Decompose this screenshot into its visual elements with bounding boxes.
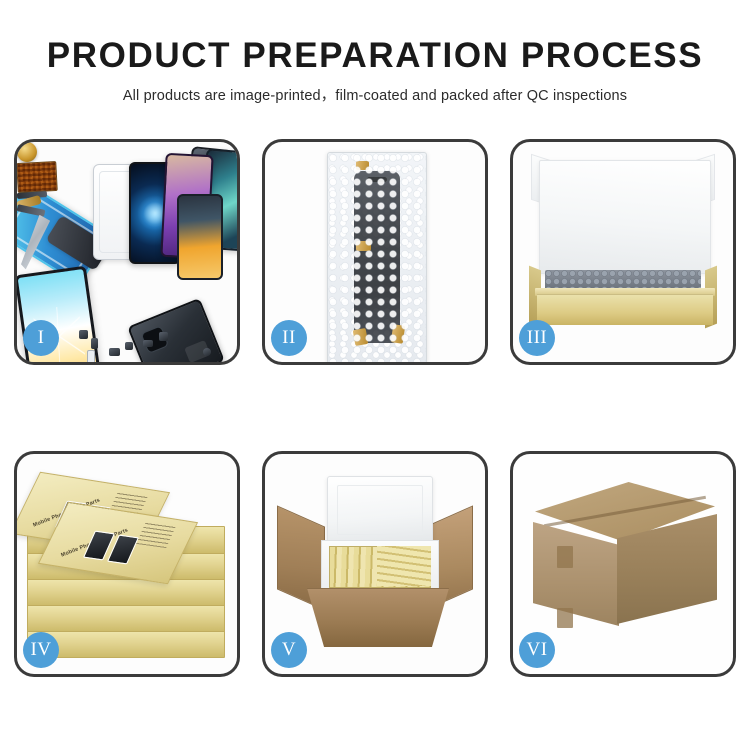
page-subtitle: All products are image-printed，film-coat… xyxy=(0,84,750,105)
small-chip-part-3 xyxy=(109,348,120,356)
process-steps-grid: I Mobile phone LCD screens, tempered gla… xyxy=(14,139,740,677)
step-badge-1: I xyxy=(23,320,59,356)
small-chip-part-6 xyxy=(87,350,95,362)
white-foam-sheet xyxy=(539,160,711,274)
small-chip-part-4 xyxy=(125,342,133,350)
step-badge-3: III xyxy=(519,320,555,356)
box-layer-4 xyxy=(27,604,225,632)
connector-board-part xyxy=(17,161,58,193)
wrapped-phone-part xyxy=(354,171,400,343)
kraft-box-front xyxy=(537,294,713,325)
yellow-boxes-inside-2 xyxy=(377,546,431,586)
carton-tape-bottom xyxy=(557,608,573,628)
step-badge-4: IV xyxy=(23,632,59,668)
small-chip-part-5 xyxy=(143,340,153,347)
process-step-panel-6[interactable]: VI Sealed outer shipping carton ready fo… xyxy=(510,451,736,677)
page-header: PRODUCT PREPARATION PROCESS All products… xyxy=(0,0,750,105)
step-badge-5: V xyxy=(271,632,307,668)
carton-tape-top xyxy=(557,546,573,568)
carton-front-wall xyxy=(307,588,449,647)
small-chip-part-1 xyxy=(79,330,88,339)
process-step-panel-2[interactable]: II Single part sealed in bubble wrap bag xyxy=(262,139,488,365)
small-chip-part-8 xyxy=(203,348,211,356)
page-title: PRODUCT PREPARATION PROCESS xyxy=(0,38,750,75)
small-chip-part-7 xyxy=(159,332,168,341)
process-step-panel-1[interactable]: I Mobile phone LCD screens, tempered gla… xyxy=(14,139,240,365)
orange-gradient-phone xyxy=(177,194,223,280)
process-step-panel-5[interactable]: V Boxes loaded into styrofoam box inside… xyxy=(262,451,488,677)
speaker-coil-part xyxy=(17,142,37,162)
tape-piece-2 xyxy=(356,241,371,251)
styrofoam-lid xyxy=(327,476,433,544)
process-step-panel-3[interactable]: III Bubble wrapped parts placed in kraft… xyxy=(510,139,736,365)
step-badge-2: II xyxy=(271,320,307,356)
process-step-panel-4[interactable]: Mobile Phone Spare Parts Mobile Phone Sp… xyxy=(14,451,240,677)
carton-left-face xyxy=(533,522,619,626)
tape-piece-1 xyxy=(356,161,369,170)
tape-piece-4 xyxy=(391,324,405,343)
step-badge-6: VI xyxy=(519,632,555,668)
small-chip-part-2 xyxy=(91,338,98,349)
box-layer-3 xyxy=(27,578,225,606)
bubble-wrap-bag xyxy=(327,152,427,362)
product-preparation-process-page: { "header": { "title": "PRODUCT PREPARAT… xyxy=(0,0,750,750)
tape-piece-3 xyxy=(353,328,369,346)
